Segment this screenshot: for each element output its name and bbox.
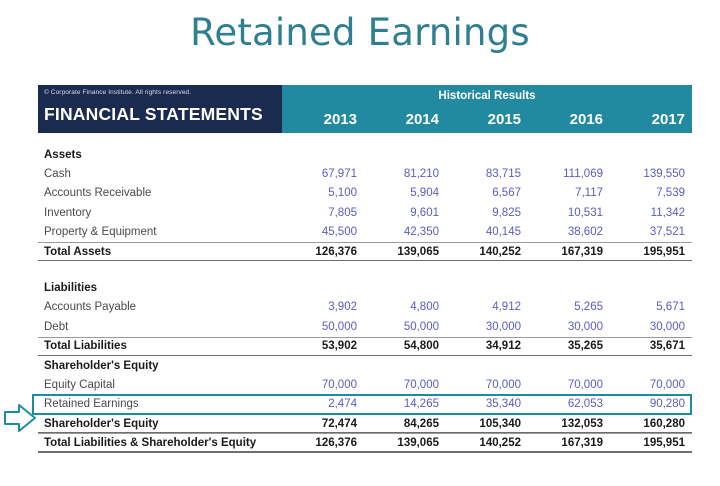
cell-2014: 84,265 xyxy=(364,418,446,430)
cell-2017: 35,671 xyxy=(610,340,692,352)
cell-2017: 37,521 xyxy=(610,226,692,238)
row-values: 45,50042,35040,14538,60237,521 xyxy=(282,226,692,238)
cell-2017: 7,539 xyxy=(610,187,692,199)
row-label: Equity Capital xyxy=(38,379,282,391)
cell-2013: 126,376 xyxy=(282,246,364,258)
cell-2016: 10,531 xyxy=(528,207,610,219)
cell-2013: 53,902 xyxy=(282,340,364,352)
cell-2017: 90,280 xyxy=(610,398,692,410)
cell-2017: 139,550 xyxy=(610,168,692,180)
years-header: Historical Results 2013 2014 2015 2016 2… xyxy=(282,85,692,133)
total-row-total-assets: Total Assets126,376139,065140,252167,319… xyxy=(38,242,692,261)
table-row-cash: Cash67,97181,21083,715111,069139,550 xyxy=(38,164,692,183)
table-row-accounts-receivable: Accounts Receivable5,1005,9046,5677,1177… xyxy=(38,184,692,203)
cell-2013: 70,000 xyxy=(282,379,364,391)
cell-2017: 160,280 xyxy=(610,418,692,430)
row-values: 126,376139,065140,252167,319195,951 xyxy=(282,246,692,258)
table-row-inventory: Inventory7,8059,6019,82510,53111,342 xyxy=(38,203,692,222)
row-values: 70,00070,00070,00070,00070,000 xyxy=(282,379,692,391)
row-label: Cash xyxy=(38,168,282,180)
cell-2013: 2,474 xyxy=(282,398,364,410)
table-row-property-equipment: Property & Equipment45,50042,35040,14538… xyxy=(38,223,692,242)
row-label: Liabilities xyxy=(38,282,282,294)
year-column-2013: 2013 xyxy=(282,111,364,128)
row-values: 5,1005,9046,5677,1177,539 xyxy=(282,187,692,199)
row-values: 67,97181,21083,715111,069139,550 xyxy=(282,168,692,180)
table-row-equity-capital: Equity Capital70,00070,00070,00070,00070… xyxy=(38,375,692,394)
table-header: © Corporate Finance Institute. All right… xyxy=(38,85,692,133)
cell-2017: 5,671 xyxy=(610,301,692,313)
row-label: Shareholder's Equity xyxy=(38,418,282,430)
cell-2014: 9,601 xyxy=(364,207,446,219)
cell-2014: 139,065 xyxy=(364,246,446,258)
cell-2015: 4,912 xyxy=(446,301,528,313)
year-columns: 2013 2014 2015 2016 2017 xyxy=(282,111,692,128)
brand-block: © Corporate Finance Institute. All right… xyxy=(38,85,282,133)
row-label: Total Assets xyxy=(38,246,282,258)
cell-2015: 40,145 xyxy=(446,226,528,238)
year-column-2015: 2015 xyxy=(446,111,528,128)
row-label: Assets xyxy=(38,149,282,161)
cell-2013: 45,500 xyxy=(282,226,364,238)
cell-2014: 81,210 xyxy=(364,168,446,180)
row-label: Shareholder's Equity xyxy=(38,360,282,372)
cell-2013: 3,902 xyxy=(282,301,364,313)
row-label: Debt xyxy=(38,321,282,333)
row-label: Inventory xyxy=(38,207,282,219)
cell-2016: 70,000 xyxy=(528,379,610,391)
cell-2015: 35,340 xyxy=(446,398,528,410)
row-values: 53,90254,80034,91235,26535,671 xyxy=(282,340,692,352)
cell-2016: 30,000 xyxy=(528,321,610,333)
cell-2014: 42,350 xyxy=(364,226,446,238)
financial-statements-table: © Corporate Finance Institute. All right… xyxy=(38,85,692,453)
row-values: 7,8059,6019,82510,53111,342 xyxy=(282,207,692,219)
cell-2013: 126,376 xyxy=(282,437,364,449)
cell-2017: 30,000 xyxy=(610,321,692,333)
cell-2014: 139,065 xyxy=(364,437,446,449)
row-label: Total Liabilities xyxy=(38,340,282,352)
cell-2014: 54,800 xyxy=(364,340,446,352)
historical-results-caption: Historical Results xyxy=(282,90,692,102)
cell-2015: 30,000 xyxy=(446,321,528,333)
year-column-2016: 2016 xyxy=(528,111,610,128)
cell-2017: 195,951 xyxy=(610,437,692,449)
year-column-2014: 2014 xyxy=(364,111,446,128)
cell-2014: 70,000 xyxy=(364,379,446,391)
total-row-total-liabilities: Total Liabilities53,90254,80034,91235,26… xyxy=(38,337,692,356)
cell-2017: 70,000 xyxy=(610,379,692,391)
cell-2016: 38,602 xyxy=(528,226,610,238)
cell-2016: 111,069 xyxy=(528,168,610,180)
page-title: Retained Earnings xyxy=(0,0,720,55)
cell-2016: 62,053 xyxy=(528,398,610,410)
cell-2015: 140,252 xyxy=(446,437,528,449)
section-spacer xyxy=(38,261,692,278)
cell-2015: 70,000 xyxy=(446,379,528,391)
cell-2015: 9,825 xyxy=(446,207,528,219)
row-label: Accounts Payable xyxy=(38,301,282,313)
cell-2016: 167,319 xyxy=(528,437,610,449)
cell-2014: 50,000 xyxy=(364,321,446,333)
cell-2015: 140,252 xyxy=(446,246,528,258)
cell-2015: 34,912 xyxy=(446,340,528,352)
row-values: 2,47414,26535,34062,05390,280 xyxy=(282,398,692,410)
copyright-text: © Corporate Finance Institute. All right… xyxy=(44,89,191,96)
year-column-2017: 2017 xyxy=(610,111,692,128)
row-label: Total Liabilities & Shareholder's Equity xyxy=(38,437,282,449)
cell-2017: 195,951 xyxy=(610,246,692,258)
cell-2016: 5,265 xyxy=(528,301,610,313)
section-heading-shareholder-s-equity: Shareholder's Equity xyxy=(38,356,692,375)
cell-2014: 5,904 xyxy=(364,187,446,199)
brand-title: FINANCIAL STATEMENTS xyxy=(44,104,263,125)
total-row-total-liabilities-and-shareholders-equity: Total Liabilities & Shareholder's Equity… xyxy=(38,433,692,452)
cell-2013: 5,100 xyxy=(282,187,364,199)
cell-2013: 50,000 xyxy=(282,321,364,333)
cell-2015: 83,715 xyxy=(446,168,528,180)
cell-2015: 105,340 xyxy=(446,418,528,430)
section-heading-assets: Assets xyxy=(38,145,692,164)
row-label: Accounts Receivable xyxy=(38,187,282,199)
row-values: 126,376139,065140,252167,319195,951 xyxy=(282,437,692,449)
table-row-retained-earnings: Retained Earnings2,47414,26535,34062,053… xyxy=(38,395,692,414)
cell-2013: 67,971 xyxy=(282,168,364,180)
row-values: 50,00050,00030,00030,00030,000 xyxy=(282,321,692,333)
row-label: Retained Earnings xyxy=(38,398,282,410)
total-row-shareholder-s-equity: Shareholder's Equity72,47484,265105,3401… xyxy=(38,414,692,433)
cell-2015: 6,567 xyxy=(446,187,528,199)
table-body: AssetsCash67,97181,21083,715111,069139,5… xyxy=(38,133,692,453)
table-row-accounts-payable: Accounts Payable3,9024,8004,9125,2655,67… xyxy=(38,298,692,317)
row-label: Property & Equipment xyxy=(38,226,282,238)
cell-2014: 14,265 xyxy=(364,398,446,410)
cell-2016: 167,319 xyxy=(528,246,610,258)
right-arrow-icon xyxy=(2,401,38,435)
cell-2013: 72,474 xyxy=(282,418,364,430)
cell-2017: 11,342 xyxy=(610,207,692,219)
section-heading-liabilities: Liabilities xyxy=(38,278,692,297)
cell-2016: 35,265 xyxy=(528,340,610,352)
row-values: 3,9024,8004,9125,2655,671 xyxy=(282,301,692,313)
cell-2016: 132,053 xyxy=(528,418,610,430)
row-values: 72,47484,265105,340132,053160,280 xyxy=(282,418,692,430)
cell-2016: 7,117 xyxy=(528,187,610,199)
table-row-debt: Debt50,00050,00030,00030,00030,000 xyxy=(38,317,692,336)
cell-2013: 7,805 xyxy=(282,207,364,219)
cell-2014: 4,800 xyxy=(364,301,446,313)
